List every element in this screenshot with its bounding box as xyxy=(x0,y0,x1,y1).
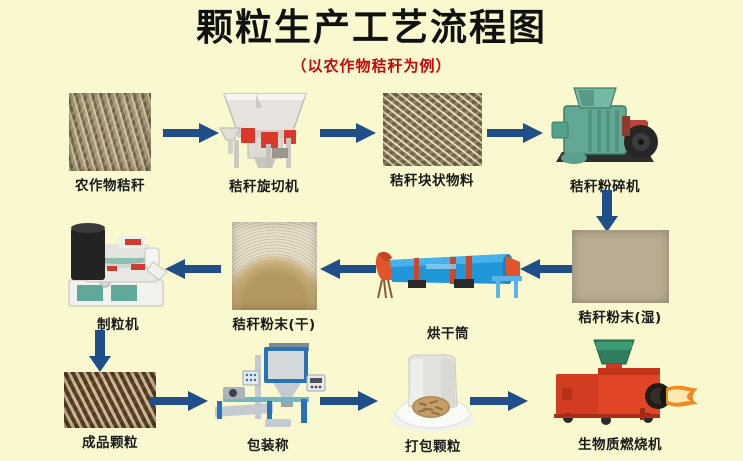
arrow-row1-to-row2 xyxy=(595,190,619,232)
flow-node-label: 生物质燃烧机 xyxy=(540,433,700,453)
straw-chips-photo xyxy=(383,93,482,166)
page-subtitle: （以农作物秸秆为例） xyxy=(0,55,743,76)
flow-node-label: 秸秆粉末(干) xyxy=(218,313,330,333)
pellet-mill-machine xyxy=(59,222,177,310)
flow-node-label: 秸秆块状物料 xyxy=(372,169,492,189)
arrow-row2-to-row3 xyxy=(88,330,112,372)
flow-node-label: 烘干筒 xyxy=(368,322,528,342)
flow-node-straw-chips[interactable]: 秸秆块状物料 xyxy=(372,93,492,189)
flow-node-label: 成品颗粒 xyxy=(55,431,165,451)
finished-pellets-photo xyxy=(64,372,156,428)
rotary-cutter-machine xyxy=(210,88,318,172)
arrow-r2-1 xyxy=(163,258,221,280)
dry-straw-powder-photo xyxy=(232,222,317,310)
straw-photo xyxy=(69,93,151,171)
packaging-scale-machine xyxy=(209,341,327,431)
arrow-r3-1 xyxy=(150,390,208,412)
flow-node-wet-powder[interactable]: 秸秆粉末(湿) xyxy=(560,230,680,326)
flowchart-canvas: 颗粒生产工艺流程图 （以农作物秸秆为例） 农作物秸秆 xyxy=(0,0,743,461)
flow-node-label: 农作物秸秆 xyxy=(55,174,165,194)
wet-straw-powder-photo xyxy=(572,230,669,303)
arrow-r3-2 xyxy=(320,390,378,412)
arrow-r1-3 xyxy=(487,122,543,144)
flow-node-packaging-scale[interactable]: 包装称 xyxy=(208,341,328,454)
flow-node-finished-pellets[interactable]: 成品颗粒 xyxy=(55,372,165,451)
biomass-burner-machine xyxy=(540,338,700,430)
page-title: 颗粒生产工艺流程图 xyxy=(0,8,743,49)
flow-node-drying-drum[interactable]: 烘干筒 xyxy=(368,232,528,342)
flow-node-rotary-cutter[interactable]: 秸秆旋切机 xyxy=(205,88,323,195)
arrow-r3-3 xyxy=(470,390,528,412)
flow-node-label: 秸秆粉末(湿) xyxy=(560,306,680,326)
flow-node-label: 制粒机 xyxy=(55,313,181,333)
flow-node-label: 秸秆旋切机 xyxy=(205,175,323,195)
flow-node-dry-powder[interactable]: 秸秆粉末(干) xyxy=(218,222,330,333)
flow-node-straw[interactable]: 农作物秸秆 xyxy=(55,93,165,194)
flow-node-biomass-burner[interactable]: 生物质燃烧机 xyxy=(540,338,700,453)
flow-node-label: 包装称 xyxy=(208,434,328,454)
bagged-pellets-photo xyxy=(387,350,479,432)
drying-drum-machine xyxy=(368,232,528,308)
flow-node-straw-crusher[interactable]: 秸秆粉碎机 xyxy=(540,86,670,195)
arrow-r1-2 xyxy=(320,122,376,144)
straw-crusher-machine xyxy=(544,86,666,172)
flow-node-label: 打包颗粒 xyxy=(378,435,488,455)
